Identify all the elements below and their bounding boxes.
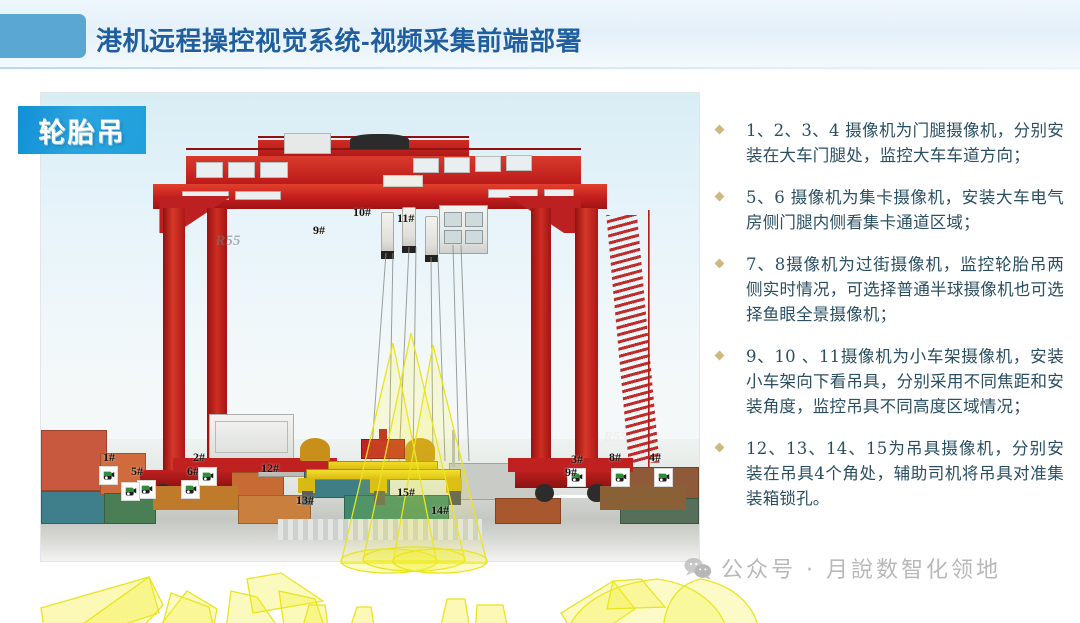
camera-label-10: 10#	[353, 205, 371, 220]
camera-marker-7[interactable]	[121, 482, 140, 501]
camera-marker-4[interactable]	[654, 468, 673, 487]
list-item: 9、10 、11摄像机为小车架摄像机，安装小车架向下看吊具，分别采用不同焦距和安…	[712, 344, 1064, 419]
camera-label-9-right: 9#	[565, 465, 577, 480]
spreader-flipper	[405, 438, 434, 461]
list-item-text: 9、10 、11摄像机为小车架摄像机，安装小车架向下看吊具，分别采用不同焦距和安…	[746, 344, 1064, 419]
diamond-bullet-icon	[715, 125, 725, 135]
spreader-flipper	[300, 438, 329, 461]
camera-label-14: 14#	[431, 503, 449, 518]
crane-photo-panel: R55 R55	[40, 92, 700, 562]
cctv-camera-icon	[201, 470, 215, 484]
camera-marker-1[interactable]	[99, 466, 118, 485]
camera-label-5: 5#	[131, 464, 143, 479]
camera-label-8: 8#	[609, 450, 621, 465]
list-item: 5、6 摄像机为集卡摄像机，安装大车电气房侧门腿内侧看集卡通道区域；	[712, 185, 1064, 235]
camera-label-13: 13#	[296, 493, 314, 508]
list-item-text: 5、6 摄像机为集卡摄像机，安装大车电气房侧门腿内侧看集卡通道区域；	[746, 185, 1064, 235]
cctv-camera-icon	[140, 483, 154, 497]
watermark-text: 公众号 · 月說数智化领地	[721, 552, 1001, 584]
list-item: 12、13、14、15为吊具摄像机，分别安装在吊具4个角处，辅助司机将吊具对准集…	[712, 436, 1064, 511]
header-divider	[0, 67, 1080, 69]
camera-label-9: 9#	[313, 223, 325, 238]
list-item-text: 7、8摄像机为过街摄像机，监控轮胎吊两侧实时情况，可选择普通半球摄像机也可选择鱼…	[746, 252, 1064, 327]
diamond-bullet-icon	[715, 351, 725, 361]
list-item: 1、2、3、4 摄像机为门腿摄像机，分别安装在大车门腿处，监控大车车道方向；	[712, 118, 1064, 168]
diamond-bullet-icon	[715, 192, 725, 202]
list-item-text: 1、2、3、4 摄像机为门腿摄像机，分别安装在大车门腿处，监控大车车道方向；	[746, 118, 1064, 168]
target-container-row	[278, 519, 482, 540]
camera-marker-2[interactable]	[198, 467, 217, 486]
diamond-bullet-icon	[715, 259, 725, 269]
cctv-camera-icon	[124, 485, 138, 499]
header-accent-bar	[0, 14, 86, 58]
headblock	[361, 439, 405, 459]
page-header: 港机远程操控视觉系统-视频采集前端部署	[0, 0, 1080, 70]
diamond-bullet-icon	[715, 443, 725, 453]
twistlock	[449, 491, 460, 505]
cctv-camera-icon	[184, 483, 198, 497]
cctv-camera-icon	[102, 469, 116, 483]
equipment-type-badge: 轮胎吊	[18, 106, 146, 154]
camera-label-11: 11#	[397, 211, 414, 226]
camera-label-4: 4#	[649, 450, 661, 465]
camera-marker-8[interactable]	[611, 468, 630, 487]
equipment-type-label: 轮胎吊	[39, 111, 126, 150]
watermark: 公众号 · 月說数智化领地	[684, 552, 1001, 584]
list-item: 7、8摄像机为过街摄像机，监控轮胎吊两侧实时情况，可选择普通半球摄像机也可选择鱼…	[712, 252, 1064, 327]
page-title: 港机远程操控视觉系统-视频采集前端部署	[96, 21, 582, 58]
cctv-camera-icon	[614, 471, 628, 485]
camera-label-2: 2#	[193, 450, 205, 465]
yard-truck	[600, 486, 686, 509]
headblock-mast	[379, 429, 386, 441]
description-list: 1、2、3、4 摄像机为门腿摄像机，分别安装在大车门腿处，监控大车车道方向； 5…	[712, 118, 1064, 528]
camera-label-12: 12#	[261, 461, 279, 476]
cctv-camera-icon	[657, 471, 671, 485]
camera-label-1: 1#	[103, 450, 115, 465]
camera-label-15: 15#	[397, 485, 415, 500]
twistlock	[374, 491, 385, 505]
list-item-text: 12、13、14、15为吊具摄像机，分别安装在吊具4个角处，辅助司机将吊具对准集…	[746, 436, 1064, 511]
wechat-icon	[684, 556, 712, 580]
